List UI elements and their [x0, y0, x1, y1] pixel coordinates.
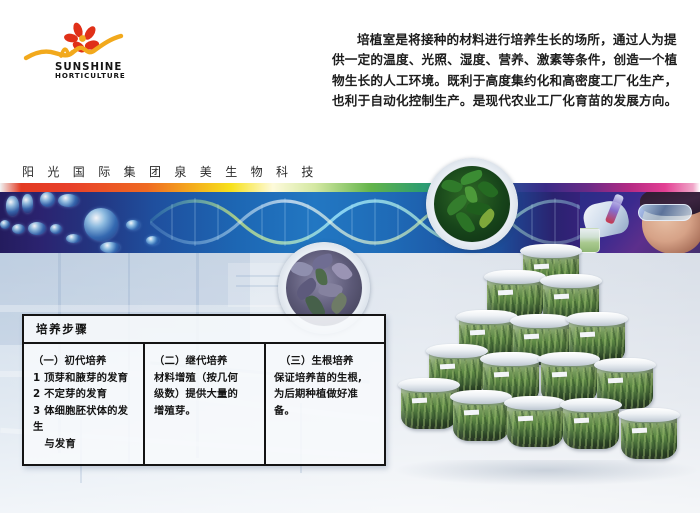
scientist-with-goggles-icon — [580, 192, 700, 253]
steps-table-title: 培养步骤 — [24, 316, 384, 344]
steps-table-body: （一）初代培养 1 顶芽和腋芽的发育 2 不定芽的发育 3 体细胞胚状体的发生 … — [24, 344, 384, 464]
cup-id-sticker — [464, 410, 479, 416]
cup-id-sticker — [554, 294, 569, 300]
cup-id-sticker — [412, 398, 427, 404]
cup-id-sticker — [470, 330, 485, 336]
culture-cup — [450, 390, 512, 442]
company-name-band: 阳光国际集团泉美生物科技 — [0, 162, 700, 184]
culture-cup — [504, 396, 566, 448]
step-1-line-4: 与发育 — [33, 436, 136, 453]
step-2-heading: （二）继代培养 — [154, 353, 257, 370]
step-column-3: （三）生根培养 保证培养苗的生根, 为后期种植做好准 备。 — [264, 344, 384, 464]
step-2-line-1: 材料增殖（按几何 — [154, 370, 257, 387]
cup-id-sticker — [518, 416, 533, 422]
brochure-page: SUNSHINE HORTICULTURE 培植室是将接种的材料进行培养生长的场… — [0, 0, 700, 513]
step-3-line-1: 保证培养苗的生根, — [274, 370, 377, 387]
logo-wordmark-line2: HORTICULTURE — [55, 71, 126, 80]
cup-id-sticker — [494, 372, 509, 378]
cup-id-sticker — [440, 364, 455, 370]
step-column-2: （二）继代培养 材料增殖（按几何 级数）提供大量的 增殖芽。 — [143, 344, 264, 464]
step-2-line-3: 增殖芽。 — [154, 403, 257, 420]
culture-cup — [560, 398, 622, 450]
header-area: SUNSHINE HORTICULTURE 培植室是将接种的材料进行培养生长的场… — [0, 0, 700, 183]
tissue-culture-cup-pyramid — [392, 252, 700, 482]
inset-photo-green-cup — [426, 158, 518, 250]
cup-id-sticker — [524, 334, 539, 340]
rainbow-divider — [0, 183, 700, 192]
cup-id-sticker — [552, 372, 567, 378]
intro-paragraph: 培植室是将接种的材料进行培养生长的场所，通过人为提供一定的温度、光照、湿度、营养… — [332, 30, 682, 112]
cup-id-sticker — [498, 290, 513, 296]
company-name-cn: 阳光国际集团泉美生物科技 — [22, 162, 327, 182]
company-logo: SUNSHINE HORTICULTURE — [22, 20, 152, 82]
step-3-heading: （三）生根培养 — [274, 353, 377, 370]
step-1-line-1: 1 顶芽和腋芽的发育 — [33, 370, 136, 387]
cup-id-sticker — [580, 332, 595, 338]
cup-id-sticker — [632, 428, 647, 434]
culture-cup — [618, 408, 680, 460]
step-3-line-3: 备。 — [274, 403, 377, 420]
flower-sunrise-logo-icon: SUNSHINE HORTICULTURE — [22, 20, 152, 82]
cup-id-sticker — [574, 418, 589, 424]
step-column-1: （一）初代培养 1 顶芽和腋芽的发育 2 不定芽的发育 3 体细胞胚状体的发生 … — [24, 344, 143, 464]
step-1-line-2: 2 不定芽的发育 — [33, 386, 136, 403]
step-1-line-3: 3 体细胞胚状体的发生 — [33, 403, 136, 436]
dna-banner — [0, 192, 700, 253]
culture-steps-table: 培养步骤 （一）初代培养 1 顶芽和腋芽的发育 2 不定芽的发育 3 体细胞胚状… — [22, 314, 386, 466]
step-1-heading: （一）初代培养 — [33, 353, 136, 370]
step-3-line-2: 为后期种植做好准 — [274, 386, 377, 403]
cup-id-sticker — [608, 378, 623, 384]
cup-id-sticker — [534, 264, 549, 270]
step-2-line-2: 级数）提供大量的 — [154, 386, 257, 403]
